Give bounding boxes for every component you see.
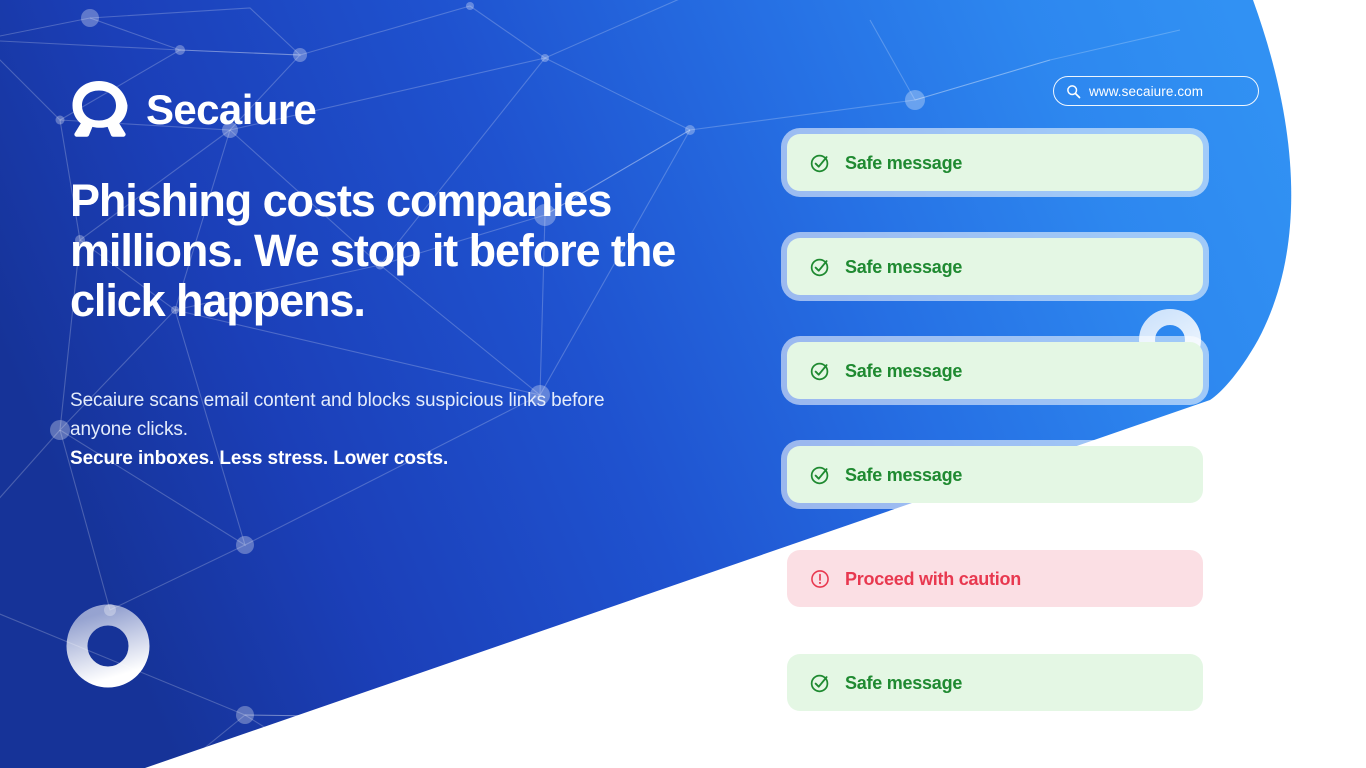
- brand-lockup: Secaiure: [70, 78, 730, 142]
- message-list: Safe messageSafe messageSafe messageSafe…: [787, 134, 1203, 711]
- url-search-bar[interactable]: www.secaiure.com: [1053, 76, 1259, 106]
- check-circle-icon: [809, 256, 831, 278]
- hero-subcopy: Secaiure scans email content and blocks …: [70, 386, 670, 473]
- check-circle-icon: [809, 464, 831, 486]
- check-circle-icon: [809, 360, 831, 382]
- message-card-label: Safe message: [845, 154, 962, 172]
- search-icon: [1066, 84, 1081, 99]
- url-text: www.secaiure.com: [1089, 84, 1203, 99]
- message-card-label: Proceed with caution: [845, 570, 1021, 588]
- message-card[interactable]: Safe message: [787, 342, 1203, 399]
- exclamation-circle-icon: [809, 568, 831, 590]
- hero-slide: Secaiure Phishing costs companies millio…: [0, 0, 1366, 768]
- check-circle-icon: [809, 152, 831, 174]
- shield-omega-icon: [70, 80, 128, 140]
- message-card[interactable]: Safe message: [787, 134, 1203, 191]
- hero-subcopy-strong: Secure inboxes. Less stress. Lower costs…: [70, 444, 670, 473]
- hero-subcopy-text: Secaiure scans email content and blocks …: [70, 390, 604, 440]
- page-title: Phishing costs companies millions. We st…: [70, 176, 710, 326]
- hero-content: Secaiure Phishing costs companies millio…: [70, 78, 730, 473]
- message-card[interactable]: Safe message: [787, 238, 1203, 295]
- message-card-label: Safe message: [845, 674, 962, 692]
- message-card[interactable]: Safe message: [787, 446, 1203, 503]
- check-circle-icon: [809, 672, 831, 694]
- message-card-label: Safe message: [845, 362, 962, 380]
- message-card-label: Safe message: [845, 466, 962, 484]
- brand-name: Secaiure: [146, 89, 316, 131]
- message-card-label: Safe message: [845, 258, 962, 276]
- message-card[interactable]: Safe message: [787, 654, 1203, 711]
- message-card[interactable]: Proceed with caution: [787, 550, 1203, 607]
